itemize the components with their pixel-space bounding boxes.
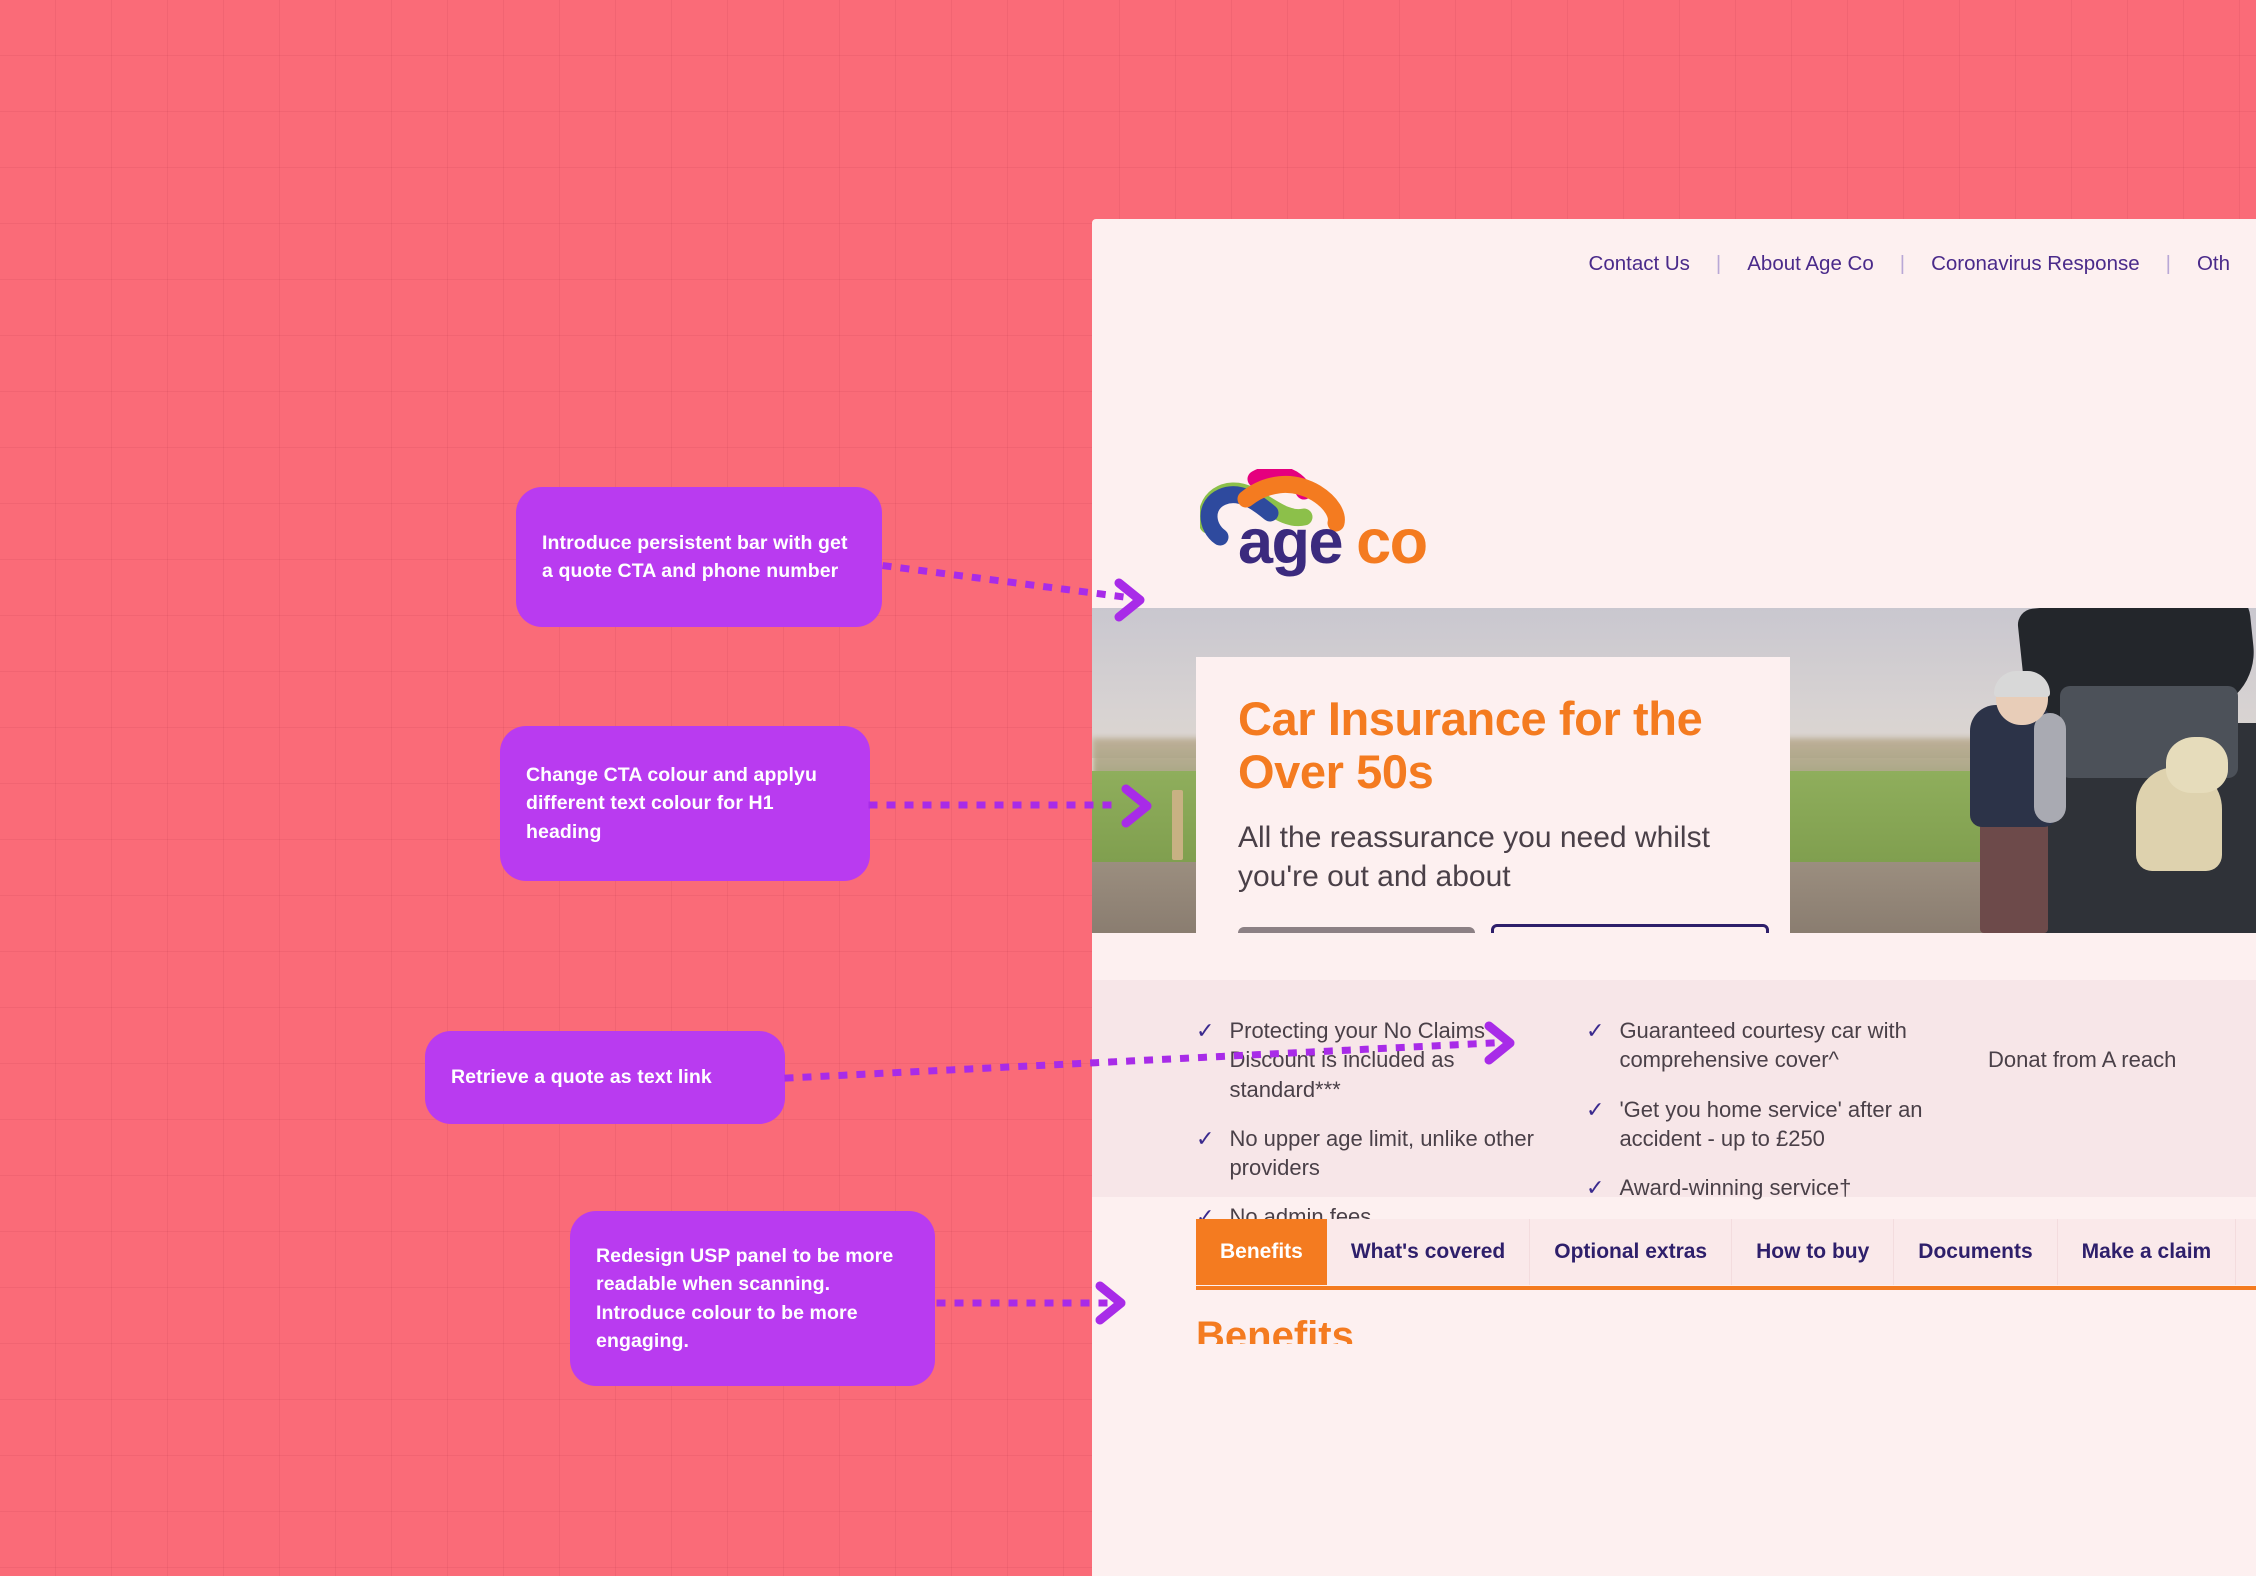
logo-age-text: age [1238, 507, 1342, 577]
age-co-wordmark: ageco [1238, 511, 1427, 574]
usp-item-label: 'Get you home service' after an accident… [1619, 1095, 1938, 1154]
annotation-callout-text: Introduce persistent bar with get a quot… [542, 529, 856, 586]
tab-make-a-claim[interactable]: Make a claim [2058, 1219, 2237, 1285]
benefits-section-heading: Benefits [1196, 1314, 1354, 1344]
get-a-quote-button[interactable]: Get a Quote today [1238, 927, 1475, 933]
hero-subheading: All the reassurance you need whilst you'… [1238, 818, 1748, 896]
age-co-logo[interactable]: ageco [1200, 469, 1470, 574]
usp-item-label: Award-winning service† [1619, 1173, 1851, 1202]
check-icon: ✓ [1196, 1016, 1214, 1104]
content-tabs: Benefits What's covered Optional extras … [1196, 1219, 2256, 1285]
usp-item: ✓ Guaranteed courtesy car with comprehen… [1586, 1016, 1938, 1075]
tab-whats-covered[interactable]: What's covered [1327, 1219, 1530, 1285]
utility-nav-contact-us[interactable]: Contact Us [1563, 252, 1716, 276]
retrieve-quote-button[interactable]: Retrieve your quote [1491, 924, 1769, 933]
tab-documents[interactable]: Documents [1894, 1219, 2057, 1285]
check-icon: ✓ [1586, 1173, 1604, 1202]
page-title: Car Insurance for the Over 50s [1238, 693, 1748, 798]
annotation-callout-cta-colour[interactable]: Change CTA colour and applyu different t… [500, 726, 870, 881]
tab-benefits[interactable]: Benefits [1196, 1219, 1327, 1285]
utility-nav: Contact Us | About Age Co | Coronavirus … [1092, 219, 2256, 276]
usp-item: ✓ 'Get you home service' after an accide… [1586, 1095, 1938, 1154]
hero-content-card: Car Insurance for the Over 50s All the r… [1196, 657, 1790, 933]
usp-item: ✓ Award-winning service† [1586, 1173, 1938, 1202]
usp-item-label: No upper age limit, unlike other provide… [1229, 1124, 1536, 1183]
logo-co-text: co [1356, 507, 1427, 577]
tab-customer-support[interactable]: Custom [2236, 1219, 2256, 1285]
usp-item-label: Guaranteed courtesy car with comprehensi… [1619, 1016, 1938, 1075]
usp-item-label: Protecting your No Claims Discount is in… [1229, 1016, 1536, 1104]
tab-optional-extras[interactable]: Optional extras [1530, 1219, 1732, 1285]
usp-item: ✓ No upper age limit, unlike other provi… [1196, 1124, 1536, 1183]
annotation-callout-retrieve-quote-link[interactable]: Retrieve a quote as text link [425, 1031, 785, 1124]
usp-item: ✓ Protecting your No Claims Discount is … [1196, 1016, 1536, 1104]
annotation-callout-persistent-bar[interactable]: Introduce persistent bar with get a quot… [516, 487, 882, 627]
usp-panel: ✓ Protecting your No Claims Discount is … [1092, 980, 2256, 1197]
utility-nav-other[interactable]: Oth [2171, 252, 2256, 276]
website-screenshot: Contact Us | About Age Co | Coronavirus … [1092, 219, 2256, 1576]
usp-column-2: ✓ Guaranteed courtesy car with comprehen… [1586, 1016, 1938, 1197]
utility-nav-about-age-co[interactable]: About Age Co [1721, 252, 1900, 276]
annotation-callout-text: Change CTA colour and applyu different t… [526, 761, 844, 846]
usp-donation-note: Donat from A reach [1988, 1044, 2208, 1075]
tab-how-to-buy[interactable]: How to buy [1732, 1219, 1894, 1285]
check-icon: ✓ [1586, 1095, 1604, 1154]
check-icon: ✓ [1196, 1124, 1214, 1183]
annotation-callout-text: Redesign USP panel to be more readable w… [596, 1242, 909, 1355]
usp-column-3: Donat from A reach [1988, 1016, 2208, 1197]
hero-cta-group: Get a Quote today Retrieve your quote [1238, 924, 1748, 933]
check-icon: ✓ [1586, 1016, 1604, 1075]
utility-nav-coronavirus-response[interactable]: Coronavirus Response [1905, 252, 2166, 276]
hero-banner: Car Insurance for the Over 50s All the r… [1092, 608, 2256, 933]
usp-column-1: ✓ Protecting your No Claims Discount is … [1196, 1016, 1536, 1197]
annotation-callout-text: Retrieve a quote as text link [451, 1063, 712, 1091]
annotation-callout-usp-redesign[interactable]: Redesign USP panel to be more readable w… [570, 1211, 935, 1386]
tab-underline-rule [1196, 1286, 2256, 1290]
